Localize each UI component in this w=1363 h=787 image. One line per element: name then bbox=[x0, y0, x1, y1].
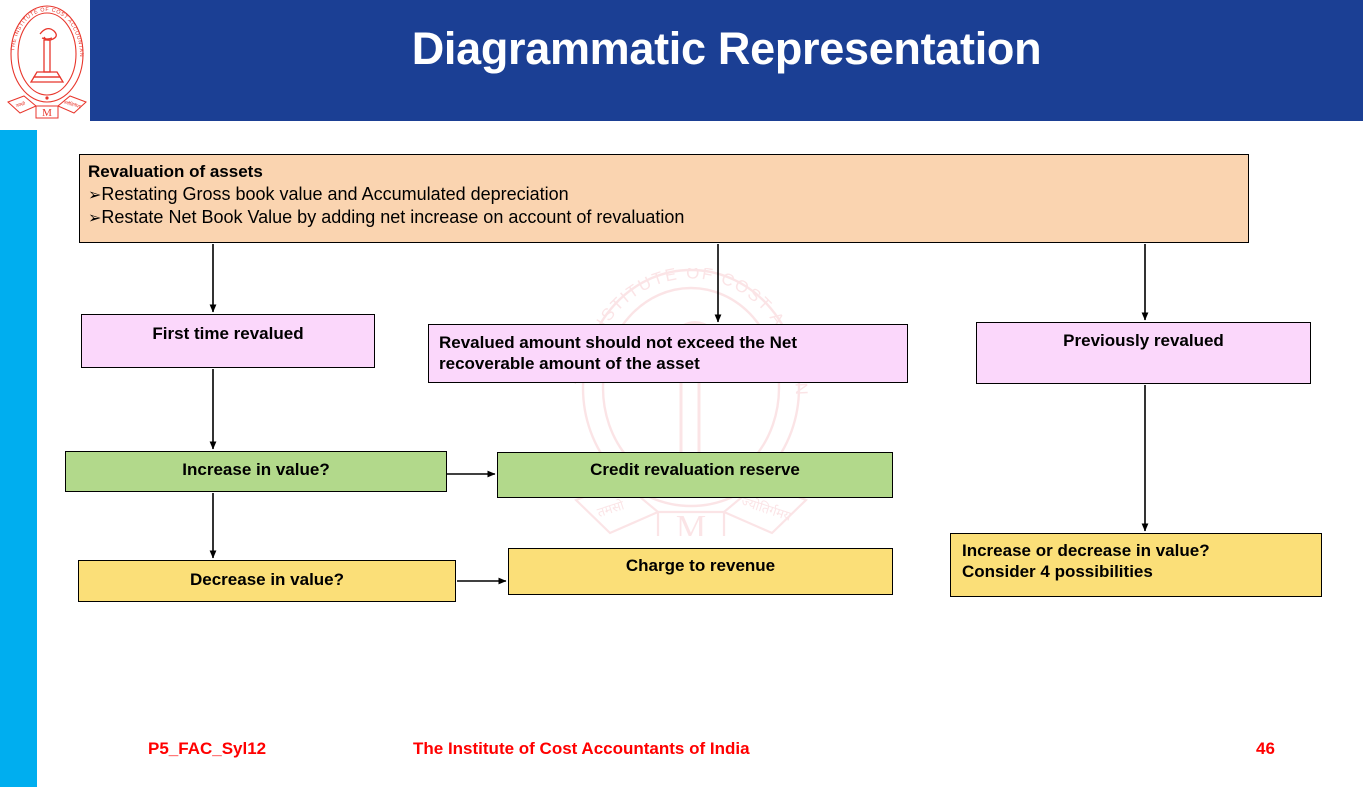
bullet-arrow-icon: ➢ bbox=[88, 210, 101, 227]
institute-logo: THE INSTITUTE OF COST ACCOUNTANTS OF IND… bbox=[4, 2, 90, 124]
page-title: Diagrammatic Representation bbox=[90, 24, 1363, 74]
svg-text:तमसो: तमसो bbox=[15, 100, 27, 109]
svg-text:ज्योतिर्गमय: ज्योतिर्गमय bbox=[63, 99, 82, 110]
node-label-line2: recoverable amount of the asset bbox=[439, 354, 901, 375]
svg-text:ज्योतिर्गमय: ज्योतिर्गमय bbox=[739, 494, 793, 524]
node-charge-to-revenue[interactable]: Charge to revenue bbox=[508, 548, 893, 595]
node-title: Revaluation of assets bbox=[88, 161, 1238, 183]
node-label: Charge to revenue bbox=[626, 556, 775, 575]
node-label: Increase in value? bbox=[182, 460, 329, 479]
node-increase-in-value[interactable]: Increase in value? bbox=[65, 451, 447, 492]
footer-page-number: 46 bbox=[1256, 739, 1275, 759]
node-label: Previously revalued bbox=[1063, 331, 1224, 350]
node-label-line2: Consider 4 possibilities bbox=[962, 562, 1315, 583]
node-label-line1: Revalued amount should not exceed the Ne… bbox=[439, 333, 901, 354]
node-label: Decrease in value? bbox=[190, 570, 344, 589]
slide-canvas: Diagrammatic Representation THE INSTITUT… bbox=[0, 0, 1363, 787]
node-label: First time revalued bbox=[152, 324, 303, 343]
node-first-time-revalued[interactable]: First time revalued bbox=[81, 314, 375, 368]
node-credit-revaluation-reserve[interactable]: Credit revaluation reserve bbox=[497, 452, 893, 498]
node-bullet-2: ➢Restate Net Book Value by adding net in… bbox=[88, 206, 1238, 229]
node-decrease-in-value[interactable]: Decrease in value? bbox=[78, 560, 456, 602]
bullet-text: Restating Gross book value and Accumulat… bbox=[101, 184, 568, 204]
footer-subject-code: P5_FAC_Syl12 bbox=[148, 739, 266, 759]
node-revalued-amount[interactable]: Revalued amount should not exceed the Ne… bbox=[428, 324, 908, 383]
node-label-line1: Increase or decrease in value? bbox=[962, 541, 1315, 562]
svg-text:तमसो: तमसो bbox=[595, 497, 626, 520]
bullet-text: Restate Net Book Value by adding net inc… bbox=[101, 207, 684, 227]
bullet-arrow-icon: ➢ bbox=[88, 187, 101, 204]
node-bullet-1: ➢Restating Gross book value and Accumula… bbox=[88, 183, 1238, 206]
svg-text:M: M bbox=[42, 107, 52, 119]
node-revaluation-of-assets[interactable]: Revaluation of assets ➢Restating Gross b… bbox=[79, 154, 1249, 243]
footer-organisation: The Institute of Cost Accountants of Ind… bbox=[413, 739, 750, 759]
svg-text:M: M bbox=[676, 509, 706, 536]
node-increase-or-decrease-in-value[interactable]: Increase or decrease in value? Consider … bbox=[950, 533, 1322, 597]
node-previously-revalued[interactable]: Previously revalued bbox=[976, 322, 1311, 384]
left-accent-bar bbox=[0, 130, 37, 787]
node-label: Credit revaluation reserve bbox=[590, 460, 800, 479]
